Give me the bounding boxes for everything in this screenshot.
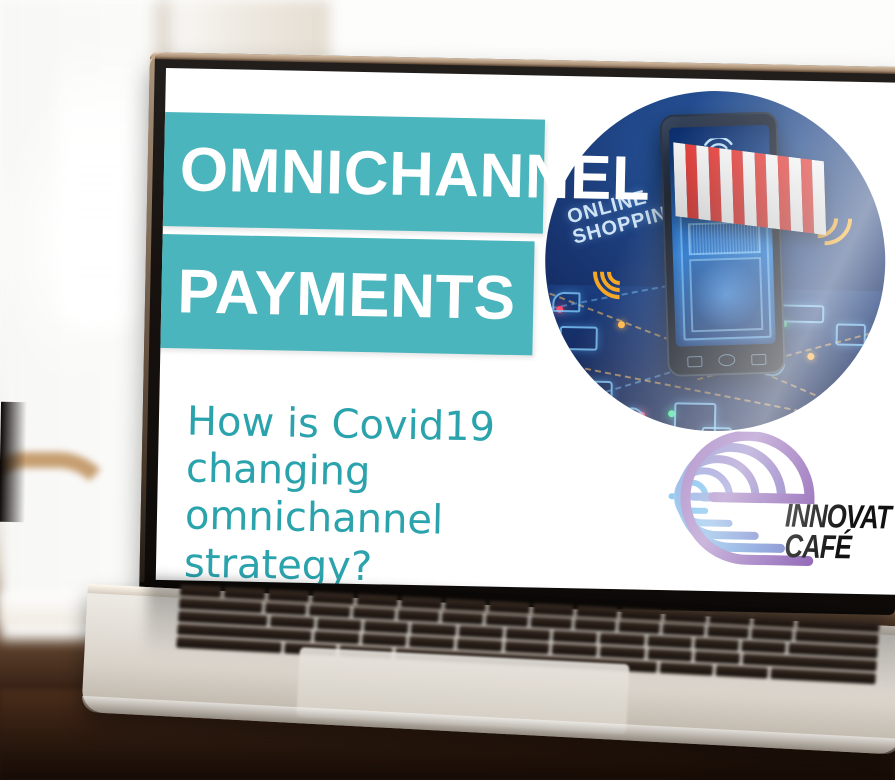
laptop: ONLINE SHOPPING xyxy=(0,0,895,780)
storefront-window xyxy=(688,221,761,255)
location-pin-icon xyxy=(552,292,580,313)
laptop-icon xyxy=(559,326,597,351)
laptop-base xyxy=(81,584,895,755)
slide-question: How is Covid19 changing omnichannel stra… xyxy=(184,398,618,594)
screenshot-canvas: ONLINE SHOPPING xyxy=(0,0,895,780)
innovation-cafe-logo: INNOVAT CAFÉ xyxy=(662,430,895,580)
back-icon xyxy=(687,355,702,366)
banner-omnichannel-text: OMNICHANNEL xyxy=(156,130,651,214)
laptop-screen[interactable]: ONLINE SHOPPING xyxy=(156,68,895,595)
credit-card-icon xyxy=(780,304,824,323)
network-node xyxy=(807,353,814,360)
logo-wordmark: INNOVAT CAFÉ xyxy=(784,501,891,564)
screen-left-shadow xyxy=(0,402,27,522)
banner-omnichannel: OMNICHANNEL xyxy=(156,108,545,233)
logo-line-2: CAFÉ xyxy=(784,531,890,563)
banner-payments-text: PAYMENTS xyxy=(156,252,517,334)
banner-payments: PAYMENTS xyxy=(156,230,535,355)
lid-left-edge xyxy=(139,56,155,582)
phone-nav-bar xyxy=(667,351,785,369)
hero-illustration: ONLINE SHOPPING xyxy=(542,88,889,435)
tag-icon xyxy=(836,323,866,346)
home-icon xyxy=(718,354,735,367)
delivery-truck-icon xyxy=(564,380,613,409)
storefront-door xyxy=(689,257,763,332)
recents-icon xyxy=(751,353,766,364)
